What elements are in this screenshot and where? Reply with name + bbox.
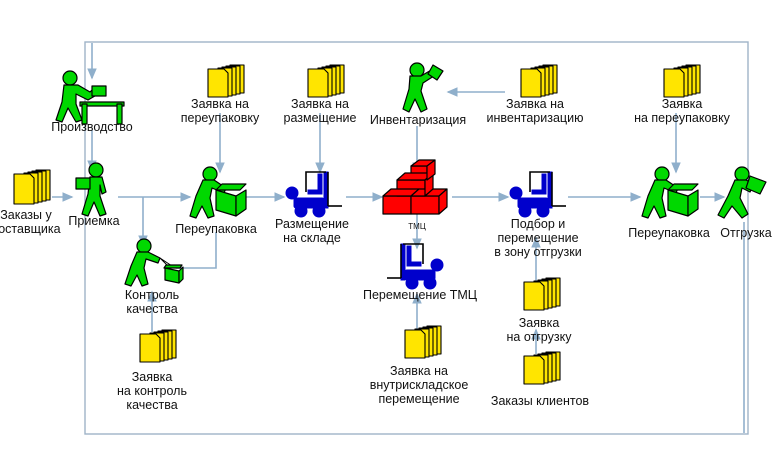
- node-label-zayavka-kontrol: Заявка на контроль качества: [87, 370, 217, 412]
- person-shipping-icon: [718, 167, 766, 218]
- node-label-zayavka-otgr: Заявка на отгрузку: [481, 316, 597, 344]
- document-stack-icon: [308, 65, 344, 97]
- document-stack-icon: [140, 330, 176, 362]
- node-label-peremeshchenie: Перемещение ТМЦ: [350, 288, 490, 302]
- person-inspecting-icon: [125, 239, 183, 286]
- document-stack-icon: [208, 65, 244, 97]
- person-with-crate-icon: [642, 167, 698, 218]
- node-label-kontrol: Контроль качества: [102, 288, 202, 316]
- forklift-icon: [286, 172, 342, 217]
- edge-kontrol-to-pereupakovka: [176, 232, 216, 268]
- node-label-priemka: Приемка: [44, 214, 144, 228]
- document-stack-icon: [524, 278, 560, 310]
- document-stack-icon: [405, 326, 441, 358]
- document-stack-icon: [664, 65, 700, 97]
- diagram-canvas: Производство Заказы у поставщика Приемка…: [0, 0, 780, 470]
- node-label-proizvodstvo: Производство: [12, 120, 172, 134]
- pallet-stack-icon: [383, 160, 447, 214]
- person-with-clipboard-icon: [403, 63, 443, 112]
- document-stack-icon: [524, 352, 560, 384]
- node-label-otgruzka: Отгрузка: [712, 226, 780, 240]
- node-label-tmc: ТМЦ: [387, 222, 447, 231]
- person-with-crate-icon: [190, 167, 246, 218]
- node-label-podbor: Подбор и перемещение в зону отгрузки: [474, 217, 602, 259]
- forklift-left-icon: [387, 244, 443, 289]
- document-stack-icon: [521, 65, 557, 97]
- document-stack-icon: [14, 170, 50, 204]
- node-label-zayavka-pereup-2: Заявка на переупаковку: [612, 97, 752, 125]
- node-label-zayavka-invent: Заявка на инвентаризацию: [465, 97, 605, 125]
- forklift-icon: [510, 172, 566, 217]
- node-label-zakazy-klient: Заказы клиентов: [470, 394, 610, 408]
- node-label-razmeshchenie: Размещение на складе: [249, 217, 375, 245]
- person-packing-table-icon: [56, 71, 124, 124]
